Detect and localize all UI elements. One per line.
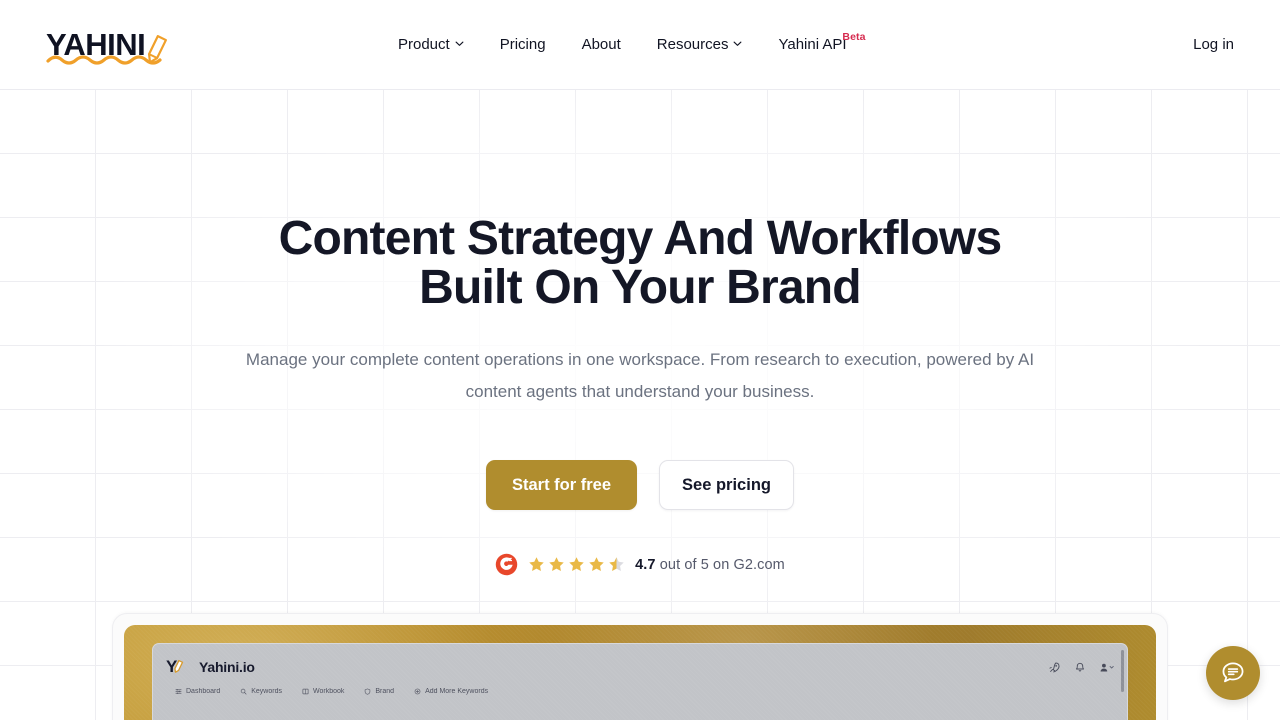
mockup-app-topbar: Y Yahini.io bbox=[153, 644, 1127, 685]
nav-label: Workbook bbox=[313, 688, 344, 695]
rating-text: 4.7 out of 5 on G2.com bbox=[635, 557, 785, 573]
star-half-icon bbox=[608, 556, 625, 573]
nav-item-pricing[interactable]: Pricing bbox=[482, 30, 564, 59]
nav-label: Resources bbox=[657, 36, 729, 53]
mockup-app-nav: Dashboard Keywords W bbox=[153, 685, 1127, 695]
see-pricing-button[interactable]: See pricing bbox=[659, 460, 794, 511]
primary-nav: Product Pricing About Resources Yahini A… bbox=[380, 0, 869, 89]
nav-item-resources[interactable]: Resources bbox=[639, 30, 761, 59]
nav-label: Brand bbox=[375, 688, 394, 695]
mockup-gold-panel: Y Yahini.io bbox=[124, 625, 1156, 720]
mockup-nav-brand[interactable]: Brand bbox=[364, 688, 394, 695]
nav-item-yahini-api[interactable]: Yahini API Beta bbox=[760, 30, 868, 59]
chevron-down-icon bbox=[733, 39, 742, 48]
star-icon bbox=[568, 556, 585, 573]
mockup-nav-add-more-keywords[interactable]: Add More Keywords bbox=[414, 688, 488, 695]
shield-icon bbox=[364, 688, 371, 695]
nav-label: Pricing bbox=[500, 36, 546, 53]
page-root: YAHINI Product Pricing About bbox=[0, 0, 1280, 720]
login-button[interactable]: Log in bbox=[1183, 0, 1244, 89]
rocket-icon[interactable] bbox=[1048, 661, 1061, 674]
logo-squiggle-pencil-icon bbox=[44, 27, 184, 71]
yahini-logo[interactable]: YAHINI bbox=[44, 27, 184, 71]
nav-item-product[interactable]: Product bbox=[380, 30, 482, 59]
nav-label: Add More Keywords bbox=[425, 688, 488, 695]
mockup-app-window: Y Yahini.io bbox=[152, 643, 1128, 720]
g2-logo-icon bbox=[495, 553, 518, 576]
sliders-icon bbox=[175, 688, 182, 695]
hero-title-line-1: Content Strategy And Workflows bbox=[279, 212, 1002, 265]
chat-widget-button[interactable] bbox=[1206, 646, 1260, 700]
mockup-nav-keywords[interactable]: Keywords bbox=[240, 688, 282, 695]
book-icon bbox=[302, 688, 309, 695]
chevron-down-icon bbox=[455, 39, 464, 48]
hero-subtitle-line-1: Manage your complete content operations … bbox=[246, 350, 922, 369]
page-title: Content Strategy And Workflows Built On … bbox=[0, 214, 1280, 313]
bell-icon[interactable] bbox=[1074, 661, 1086, 674]
cta-row: Start for free See pricing bbox=[0, 460, 1280, 511]
nav-label: Keywords bbox=[251, 688, 282, 695]
mockup-app-title: Yahini.io bbox=[199, 659, 255, 675]
chat-bubble-icon bbox=[1220, 660, 1246, 686]
search-icon bbox=[240, 688, 247, 695]
hero-title-line-2: Built On Your Brand bbox=[419, 261, 861, 314]
star-icon bbox=[548, 556, 565, 573]
nav-label: Product bbox=[398, 36, 450, 53]
mockup-toolbar-icons bbox=[1048, 661, 1115, 674]
plus-circle-icon bbox=[414, 688, 421, 695]
site-header: YAHINI Product Pricing About bbox=[0, 0, 1280, 89]
mockup-scrollbar[interactable] bbox=[1121, 650, 1124, 692]
star-rating bbox=[528, 556, 625, 573]
rating-row: 4.7 out of 5 on G2.com bbox=[0, 553, 1280, 576]
rating-suffix: out of 5 on G2.com bbox=[660, 557, 785, 573]
yahini-mark-icon: Y bbox=[165, 655, 189, 679]
nav-item-about[interactable]: About bbox=[564, 30, 639, 59]
user-avatar-icon[interactable] bbox=[1099, 661, 1115, 674]
hero-subtitle: Manage your complete content operations … bbox=[245, 344, 1035, 408]
hero-section: Content Strategy And Workflows Built On … bbox=[0, 89, 1280, 576]
start-for-free-button[interactable]: Start for free bbox=[486, 460, 637, 511]
star-icon bbox=[528, 556, 545, 573]
beta-badge: Beta bbox=[842, 32, 865, 43]
nav-label: Dashboard bbox=[186, 688, 220, 695]
star-icon bbox=[588, 556, 605, 573]
nav-label: About bbox=[582, 36, 621, 53]
nav-label: Yahini API bbox=[778, 36, 846, 53]
mockup-nav-dashboard[interactable]: Dashboard bbox=[175, 688, 220, 695]
rating-score: 4.7 bbox=[635, 557, 655, 573]
product-screenshot-mockup: Y Yahini.io bbox=[112, 613, 1168, 720]
mockup-nav-workbook[interactable]: Workbook bbox=[302, 688, 344, 695]
